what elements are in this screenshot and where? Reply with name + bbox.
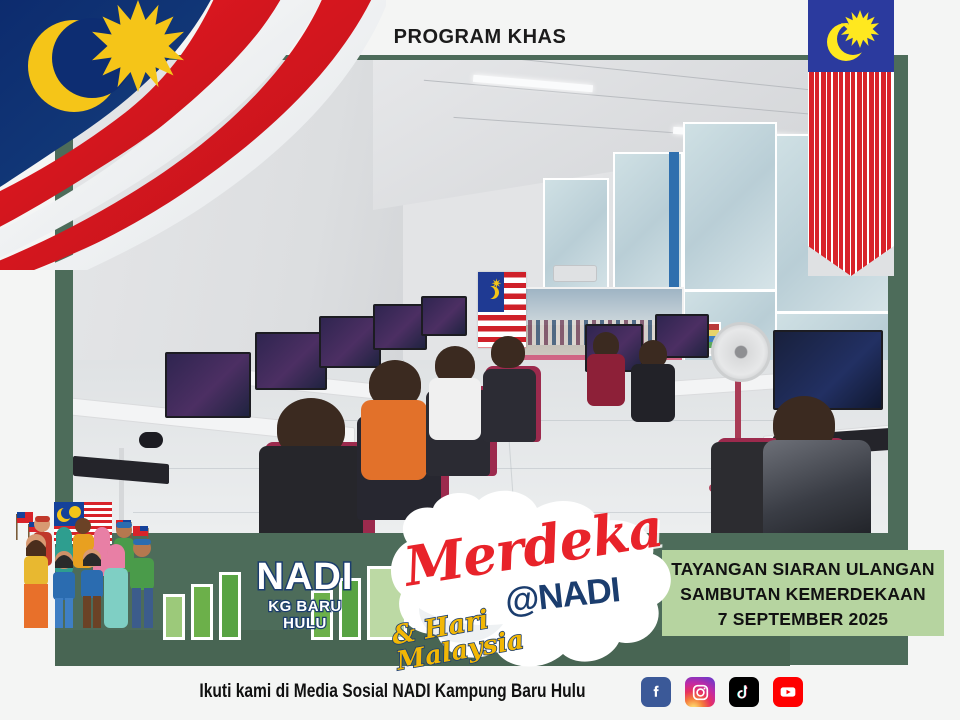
nadi-logo: NADI KG BARU HULU xyxy=(163,540,408,640)
youtube-icon[interactable] xyxy=(773,677,803,707)
nadi-bar xyxy=(191,584,213,640)
facebook-icon[interactable] xyxy=(641,677,671,707)
nadi-location: KG BARU HULU xyxy=(245,598,365,632)
footer: Ikuti kami di Media Sosial NADI Kampung … xyxy=(0,672,960,712)
event-line-1: TAYANGAN SIARAN ULANGAN xyxy=(662,557,944,582)
poster-canvas: ✷ xyxy=(0,0,960,720)
nadi-name: NADI xyxy=(245,558,365,596)
event-line-2: SAMBUTAN KEMERDEKAAN xyxy=(662,582,944,607)
event-line-3: 7 SEPTEMBER 2025 xyxy=(662,607,944,632)
nadi-bar xyxy=(163,594,185,640)
nadi-bar xyxy=(219,572,241,640)
crowd-waving-flags-icon xyxy=(2,492,162,638)
tiktok-icon[interactable] xyxy=(729,677,759,707)
instagram-icon[interactable] xyxy=(685,677,715,707)
nadi-wordmark: NADI KG BARU HULU xyxy=(245,558,365,632)
event-banner: TAYANGAN SIARAN ULANGAN SAMBUTAN KEMERDE… xyxy=(662,550,944,636)
page-title: PROGRAM KHAS xyxy=(0,26,960,49)
merdeka-nadi-logo: Merdeka @NADI & Hari Malaysia xyxy=(385,488,685,673)
footer-text: Ikuti kami di Media Sosial NADI Kampung … xyxy=(199,681,585,703)
